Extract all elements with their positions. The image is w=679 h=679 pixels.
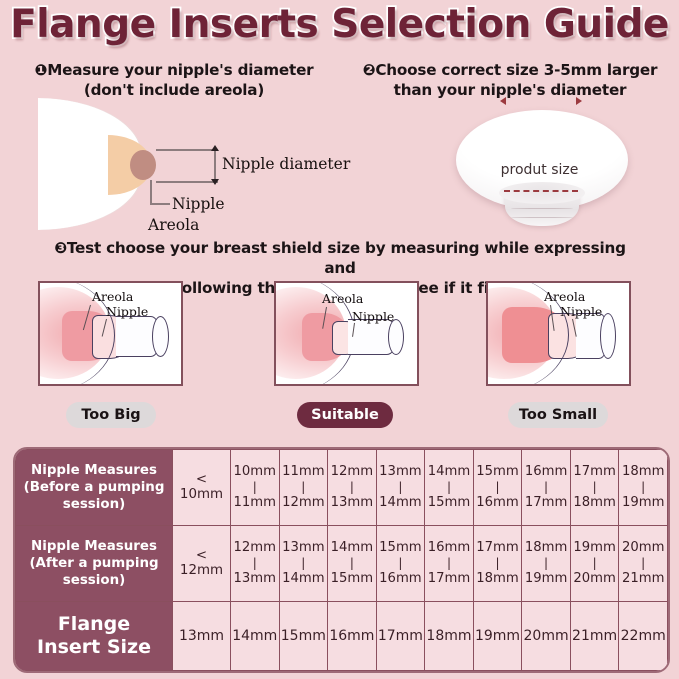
range-separator: | xyxy=(474,557,522,570)
nipple-label-2: Nipple xyxy=(352,309,394,324)
infographic-page: Flange Inserts Selection Guide ❶Measure … xyxy=(0,0,679,679)
range-separator: | xyxy=(377,481,425,494)
cell-r1-c1: 10mm|11mm xyxy=(231,450,280,526)
step-3-marker: ❸ xyxy=(54,239,67,257)
range-to: 14mm xyxy=(282,571,324,586)
range-from: 12mm xyxy=(234,540,276,555)
range-separator: | xyxy=(280,481,328,494)
range-from: 10mm xyxy=(234,464,276,479)
comparison-box-suitable: Areola Nipple xyxy=(274,281,419,386)
cell-r2-c0: < 12mm xyxy=(173,525,231,601)
step-2-line2: than your nipple's diameter xyxy=(394,81,627,99)
row-header-line-2: Insert Size xyxy=(37,636,151,658)
row-header-line-3: session) xyxy=(63,573,125,588)
row-header-line-2: (Before a pumping xyxy=(24,480,165,495)
row-header-line-1: Flange xyxy=(58,613,130,635)
cell-r2-c8: 19mm|20mm xyxy=(570,525,619,601)
cell-r3-c9: 22mm xyxy=(619,601,668,670)
areola-label-3: Areola xyxy=(544,289,585,304)
nipple-shape-icon xyxy=(130,150,156,180)
arrow-up-icon xyxy=(211,145,219,151)
range-to: 11mm xyxy=(234,495,276,510)
cell-r1-c9: 18mm|19mm xyxy=(619,450,668,526)
nipple-label-1: Nipple xyxy=(106,304,148,319)
arrow-right-icon xyxy=(576,97,582,105)
arrow-left-icon xyxy=(500,97,506,105)
cell-r1-c3: 12mm|13mm xyxy=(328,450,377,526)
badge-suitable[interactable]: Suitable xyxy=(297,402,393,428)
range-separator: | xyxy=(280,557,328,570)
range-from: 17mm xyxy=(573,464,615,479)
range-from: 16mm xyxy=(525,464,567,479)
cell-r2-c6: 17mm|18mm xyxy=(473,525,522,601)
badge-too-small[interactable]: Too Small xyxy=(508,402,608,428)
row-header-before-pumping: Nipple Measures (Before a pumping sessio… xyxy=(16,450,173,526)
cell-r2-c7: 18mm|19mm xyxy=(522,525,571,601)
range-separator: | xyxy=(425,481,473,494)
cell-r3-c1: 14mm xyxy=(231,601,280,670)
step-1-heading: ❶Measure your nipple's diameter (don't i… xyxy=(14,60,334,100)
tunnel-cap-3 xyxy=(600,313,616,359)
range-from: 20mm xyxy=(622,540,664,555)
cell-r1-c2: 11mm|12mm xyxy=(279,450,328,526)
range-separator: | xyxy=(377,557,425,570)
range-separator: | xyxy=(474,481,522,494)
range-to: 17mm xyxy=(428,571,470,586)
step-3-line1: Test choose your breast shield size by m… xyxy=(67,239,626,277)
cell-r1-c5: 14mm|15mm xyxy=(425,450,474,526)
range-to: 15mm xyxy=(331,571,373,586)
cell-r1-c6: 15mm|16mm xyxy=(473,450,522,526)
range-separator: | xyxy=(619,481,667,494)
step-2-marker: ❷ xyxy=(363,61,376,79)
row-header-line-2: (After a pumping xyxy=(29,556,158,571)
step-2-line1: Choose correct size 3-5mm larger xyxy=(375,61,657,79)
cell-r1-c0: < 10mm xyxy=(173,450,231,526)
range-separator: | xyxy=(571,557,619,570)
range-to: 17mm xyxy=(525,495,567,510)
nipple-leader-horizontal xyxy=(150,203,170,205)
range-from: 14mm xyxy=(428,464,470,479)
cell-r3-c5: 18mm xyxy=(425,601,474,670)
range-to: 19mm xyxy=(525,571,567,586)
comparison-box-too-small: Areola Nipple xyxy=(486,281,631,386)
range-to: 18mm xyxy=(476,571,518,586)
range-from: 18mm xyxy=(622,464,664,479)
range-from: 15mm xyxy=(379,540,421,555)
range-separator: | xyxy=(522,557,570,570)
table-body: Nipple Measures (Before a pumping sessio… xyxy=(16,450,668,671)
neck-rib-2 xyxy=(511,208,573,209)
neck-rib-3 xyxy=(511,217,573,218)
range-to: 19mm xyxy=(622,495,664,510)
range-from: 14mm xyxy=(331,540,373,555)
step-1-marker: ❶ xyxy=(35,61,48,79)
range-separator: | xyxy=(328,557,376,570)
range-from: 19mm xyxy=(573,540,615,555)
tunnel-cap-1 xyxy=(152,316,169,357)
flange-size-table: Nipple Measures (Before a pumping sessio… xyxy=(13,447,670,673)
product-size-label: produt size xyxy=(400,162,679,178)
cell-r3-c3: 16mm xyxy=(328,601,377,670)
cell-r3-c7: 20mm xyxy=(522,601,571,670)
range-to: 20mm xyxy=(573,571,615,586)
arrow-down-icon xyxy=(211,179,219,185)
row-header-line-3: session) xyxy=(63,497,125,512)
step-1-line1: Measure your nipple's diameter xyxy=(47,61,313,79)
cell-r3-c6: 19mm xyxy=(473,601,522,670)
tunnel-cap-2 xyxy=(388,319,404,355)
range-from: 16mm xyxy=(428,540,470,555)
areola-label-2: Areola xyxy=(322,291,363,306)
cell-r1-c4: 13mm|14mm xyxy=(376,450,425,526)
range-to: 21mm xyxy=(622,571,664,586)
nipple-leader-vertical xyxy=(150,180,152,204)
cell-r2-c9: 20mm|21mm xyxy=(619,525,668,601)
range-to: 13mm xyxy=(331,495,373,510)
dimension-line-bottom xyxy=(156,181,218,183)
table-row: Flange Insert Size 13mm 14mm 15mm 16mm 1… xyxy=(16,601,668,670)
comparison-box-too-big: Areola Nipple xyxy=(38,281,183,386)
cell-r2-c3: 14mm|15mm xyxy=(328,525,377,601)
range-separator: | xyxy=(571,481,619,494)
cell-r2-c1: 12mm|13mm xyxy=(231,525,280,601)
range-to: 16mm xyxy=(476,495,518,510)
range-from: 13mm xyxy=(379,464,421,479)
size-measure-dashed-line xyxy=(504,190,578,194)
flange-insert-product-diagram: produt size xyxy=(400,100,679,235)
cell-r1-c7: 16mm|17mm xyxy=(522,450,571,526)
step-2-heading: ❷Choose correct size 3-5mm larger than y… xyxy=(350,60,670,100)
badge-too-big[interactable]: Too Big xyxy=(66,402,156,428)
row-header-line-1: Nipple Measures xyxy=(31,463,157,478)
cell-r2-c2: 13mm|14mm xyxy=(279,525,328,601)
breast-anatomy-diagram: Nipple diameter Nipple Areola xyxy=(28,98,338,230)
page-title: Flange Inserts Selection Guide xyxy=(0,2,679,47)
range-from: 17mm xyxy=(476,540,518,555)
nipple-diameter-label: Nipple diameter xyxy=(222,155,350,173)
step-1-line2: (don't include areola) xyxy=(84,81,264,99)
cell-r3-c2: 15mm xyxy=(279,601,328,670)
dimension-line-top xyxy=(156,149,218,151)
range-to: 18mm xyxy=(573,495,615,510)
range-to: 15mm xyxy=(428,495,470,510)
nipple-label-3: Nipple xyxy=(560,304,602,319)
row-header-after-pumping: Nipple Measures (After a pumping session… xyxy=(16,525,173,601)
range-separator: | xyxy=(328,481,376,494)
areola-label-1: Areola xyxy=(92,289,133,304)
range-separator: | xyxy=(231,557,279,570)
areola-label: Areola xyxy=(148,216,199,234)
range-from: 18mm xyxy=(525,540,567,555)
range-to: 14mm xyxy=(379,495,421,510)
range-from: 15mm xyxy=(476,464,518,479)
range-separator: | xyxy=(425,557,473,570)
range-to: 16mm xyxy=(379,571,421,586)
cell-r2-c4: 15mm|16mm xyxy=(376,525,425,601)
range-separator: | xyxy=(522,481,570,494)
cell-r2-c5: 16mm|17mm xyxy=(425,525,474,601)
cell-r1-c8: 17mm|18mm xyxy=(570,450,619,526)
range-to: 13mm xyxy=(234,571,276,586)
cell-r3-c4: 17mm xyxy=(376,601,425,670)
row-header-flange-insert-size: Flange Insert Size xyxy=(16,601,173,670)
range-to: 12mm xyxy=(282,495,324,510)
cell-r3-c8: 21mm xyxy=(570,601,619,670)
range-separator: | xyxy=(231,481,279,494)
row-header-line-1: Nipple Measures xyxy=(31,539,157,554)
cell-r3-c0: 13mm xyxy=(173,601,231,670)
range-from: 12mm xyxy=(331,464,373,479)
range-from: 11mm xyxy=(282,464,324,479)
sizing-table: Nipple Measures (Before a pumping sessio… xyxy=(15,449,668,671)
range-from: 13mm xyxy=(282,540,324,555)
nipple-label: Nipple xyxy=(172,195,225,213)
range-separator: | xyxy=(619,557,667,570)
table-row: Nipple Measures (After a pumping session… xyxy=(16,525,668,601)
dimension-line-vertical xyxy=(214,149,216,182)
table-row: Nipple Measures (Before a pumping sessio… xyxy=(16,450,668,526)
